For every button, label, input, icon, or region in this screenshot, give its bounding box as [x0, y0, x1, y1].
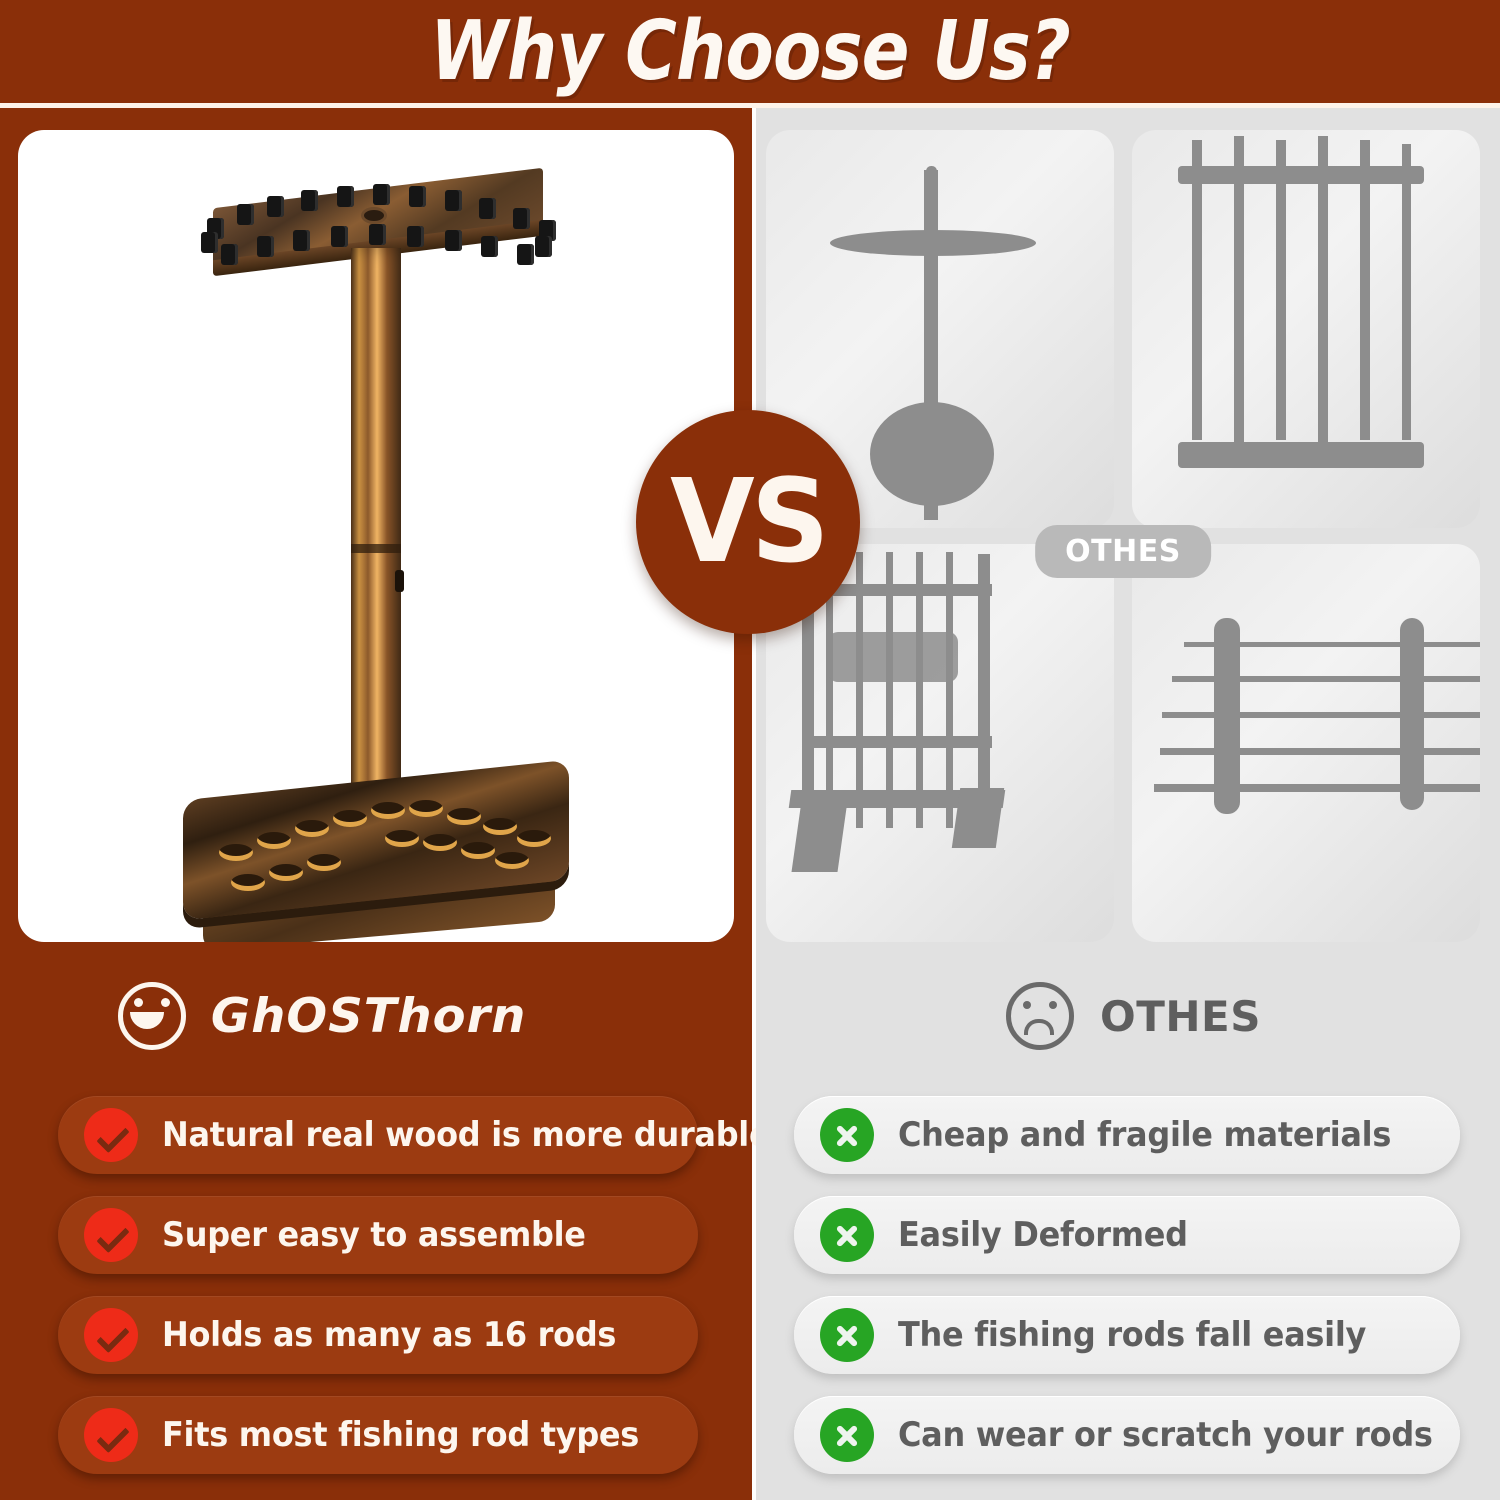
drawback-item: Easily Deformed: [794, 1196, 1460, 1274]
rack-rod-clip: [479, 198, 496, 219]
x-circle-icon: [820, 1308, 874, 1362]
rack-rod-hole: [447, 808, 481, 825]
smiley-eye-left: [134, 998, 143, 1007]
rack-rod-clip: [369, 224, 386, 245]
rack-bottom-rail: [1178, 442, 1424, 468]
rack-rod-hole: [385, 830, 419, 847]
brand-panel: GhOSThorn Natural real wood is more dura…: [0, 108, 752, 1500]
smiley-eye-right: [161, 998, 170, 1007]
feature-item: Holds as many as 16 rods: [58, 1296, 698, 1374]
feature-label: Holds as many as 16 rods: [162, 1315, 616, 1355]
page-title: Why Choose Us?: [430, 4, 1070, 99]
rack-rod-clip: [293, 230, 310, 251]
rack-rod-hole: [219, 844, 253, 861]
rack-rod-hole: [307, 854, 341, 871]
rod-3: [1276, 140, 1286, 440]
others-panel: OTHES OTHES Cheap and fragile materialsE…: [756, 108, 1500, 1500]
rack-rod-hole: [269, 864, 303, 881]
rack-rod-hole: [423, 834, 457, 851]
fishing-rod-rack-illustration: [161, 152, 591, 922]
rack-rod-hole: [483, 818, 517, 835]
brand-heading: GhOSThorn: [0, 970, 752, 1062]
sad-mouth: [1024, 1019, 1054, 1035]
product-photo-card: [18, 130, 734, 942]
check-circle-icon: [84, 1108, 138, 1162]
rack-rod-clip: [373, 184, 390, 205]
competitor-image-2: [1132, 130, 1480, 528]
rack-top-rail: [1178, 166, 1424, 184]
rack-adjust-knob: [395, 570, 404, 592]
rack-rod-hole: [517, 830, 551, 847]
feature-label: Super easy to assemble: [162, 1215, 586, 1255]
wall-rod-4: [1160, 748, 1480, 755]
stand-foot-right: [952, 788, 1004, 848]
rack-rod-clip: [517, 244, 534, 265]
others-name: OTHES: [1100, 992, 1261, 1041]
rack-rod-hole: [371, 802, 405, 819]
others-heading: OTHES: [756, 970, 1500, 1062]
rack-rod-clip: [221, 244, 238, 265]
header-banner: Why Choose Us?: [0, 0, 1500, 103]
rack-rod-hole: [231, 874, 265, 891]
drawback-label: Easily Deformed: [898, 1215, 1188, 1255]
wall-rod-3: [1162, 712, 1480, 718]
smiley-mouth: [130, 1012, 164, 1029]
infographic-page: Why Choose Us?: [0, 0, 1500, 1500]
wall-bracket-left: [1214, 618, 1240, 814]
rack-rod-4: [916, 552, 923, 828]
vs-badge: VS: [636, 410, 860, 634]
rack-rod-clip: [407, 226, 424, 247]
vs-label: VS: [670, 455, 826, 589]
sad-eye-left: [1023, 1001, 1031, 1009]
product-photo: [18, 130, 734, 942]
smiley-sad-icon: [1006, 982, 1074, 1050]
rack-rod-clip: [201, 232, 218, 253]
check-circle-icon: [84, 1308, 138, 1362]
rack-rod-clip: [267, 196, 284, 217]
competitor-image-4: [1132, 544, 1480, 942]
rack-rod-5: [946, 552, 953, 828]
feature-label: Natural real wood is more durable: [162, 1115, 770, 1155]
rack-rod-hole: [295, 820, 329, 837]
rack-rod-clip: [445, 230, 462, 251]
feature-item: Super easy to assemble: [58, 1196, 698, 1274]
brand-name: GhOSThorn: [211, 989, 526, 1044]
feature-item: Natural real wood is more durable: [58, 1096, 698, 1174]
rack-rod-hole: [257, 832, 291, 849]
drawback-list: Cheap and fragile materialsEasily Deform…: [794, 1096, 1460, 1496]
drawback-item: Cheap and fragile materials: [794, 1096, 1460, 1174]
rack-rod-hole: [409, 800, 443, 817]
wall-bracket-right: [1400, 618, 1424, 810]
drawback-item: The fishing rods fall easily: [794, 1296, 1460, 1374]
drawback-label: The fishing rods fall easily: [898, 1315, 1366, 1355]
feature-item: Fits most fishing rod types: [58, 1396, 698, 1474]
drawback-item: Can wear or scratch your rods: [794, 1396, 1460, 1474]
rod-5: [1360, 140, 1370, 440]
rack-rod-clip: [481, 236, 498, 257]
x-circle-icon: [820, 1208, 874, 1262]
stand-foot-left: [792, 808, 847, 872]
rack-rod-clip: [445, 190, 462, 211]
rack-rod-clip: [257, 236, 274, 257]
x-circle-icon: [820, 1108, 874, 1162]
rod-6: [1402, 144, 1411, 440]
rack-rod-clip: [237, 204, 254, 225]
feature-label: Fits most fishing rod types: [162, 1415, 639, 1455]
rack-rod-hole: [495, 852, 529, 869]
rack-post-joint: [351, 544, 401, 553]
rack-rod-clip: [337, 186, 354, 207]
sad-eye-right: [1049, 1001, 1057, 1009]
drawback-label: Can wear or scratch your rods: [898, 1415, 1433, 1455]
stand-round-base: [870, 402, 994, 506]
rod-1: [1192, 140, 1202, 440]
rack-rod-clip: [409, 186, 426, 207]
rack-top-hub: [364, 210, 384, 221]
wall-rod-5: [1154, 784, 1480, 792]
drawback-label: Cheap and fragile materials: [898, 1115, 1391, 1155]
rack-rod-clip: [535, 236, 552, 257]
rack-rod-hole: [461, 842, 495, 859]
check-circle-icon: [84, 1408, 138, 1462]
rack-rod-clip: [331, 226, 348, 247]
grid-others-chip: OTHES: [1035, 525, 1211, 578]
rack-rod-hole: [333, 810, 367, 827]
rack-rod-clip: [301, 190, 318, 211]
rack-rod-3: [886, 552, 893, 828]
x-circle-icon: [820, 1408, 874, 1462]
rack-rod-2: [856, 552, 863, 828]
reel-cluster: [828, 632, 958, 682]
competitor-image-grid: OTHES: [766, 130, 1480, 942]
smiley-happy-icon: [118, 982, 186, 1050]
check-circle-icon: [84, 1208, 138, 1262]
rack-rod-clip: [513, 208, 530, 229]
feature-list: Natural real wood is more durableSuper e…: [58, 1096, 698, 1496]
